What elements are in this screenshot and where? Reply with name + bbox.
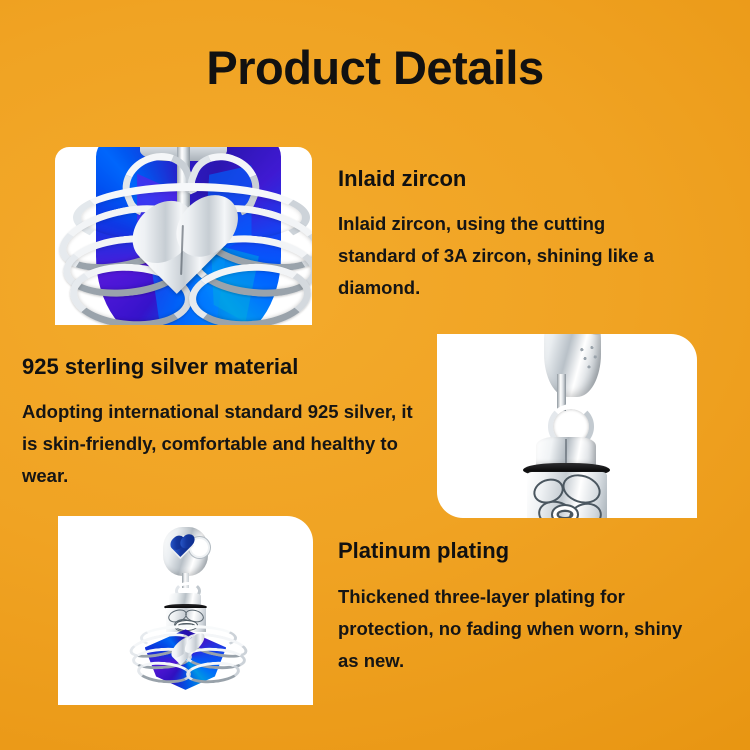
feature-heading-sterling-silver: 925 sterling silver material [22, 355, 298, 378]
feature-heading-platinum-plating: Platinum plating [338, 539, 509, 562]
cap-seam-shape [565, 439, 567, 465]
feature-heading-inlaid-zircon: Inlaid zircon [338, 167, 466, 190]
feature-body-inlaid-zircon: Inlaid zircon, using the cutting standar… [338, 208, 686, 303]
product-details-page: Product Details [0, 0, 750, 750]
clasp-barrel-illustration [437, 334, 697, 518]
full-pendant-photo [58, 516, 313, 705]
full-pendant-illustration [58, 516, 313, 705]
feature-body-platinum-plating: Thickened three-layer plating for protec… [338, 581, 698, 676]
zircon-macro-illustration [55, 147, 312, 325]
filigree-rose-shape [551, 504, 579, 518]
clasp-texture-dots [577, 345, 600, 371]
zircon-macro-photo [55, 147, 312, 325]
clasp-barrel-photo [437, 334, 697, 518]
feature-body-sterling-silver: Adopting international standard 925 silv… [22, 396, 430, 491]
filigree-barrel-shape [527, 472, 608, 518]
page-title: Product Details [0, 44, 750, 91]
